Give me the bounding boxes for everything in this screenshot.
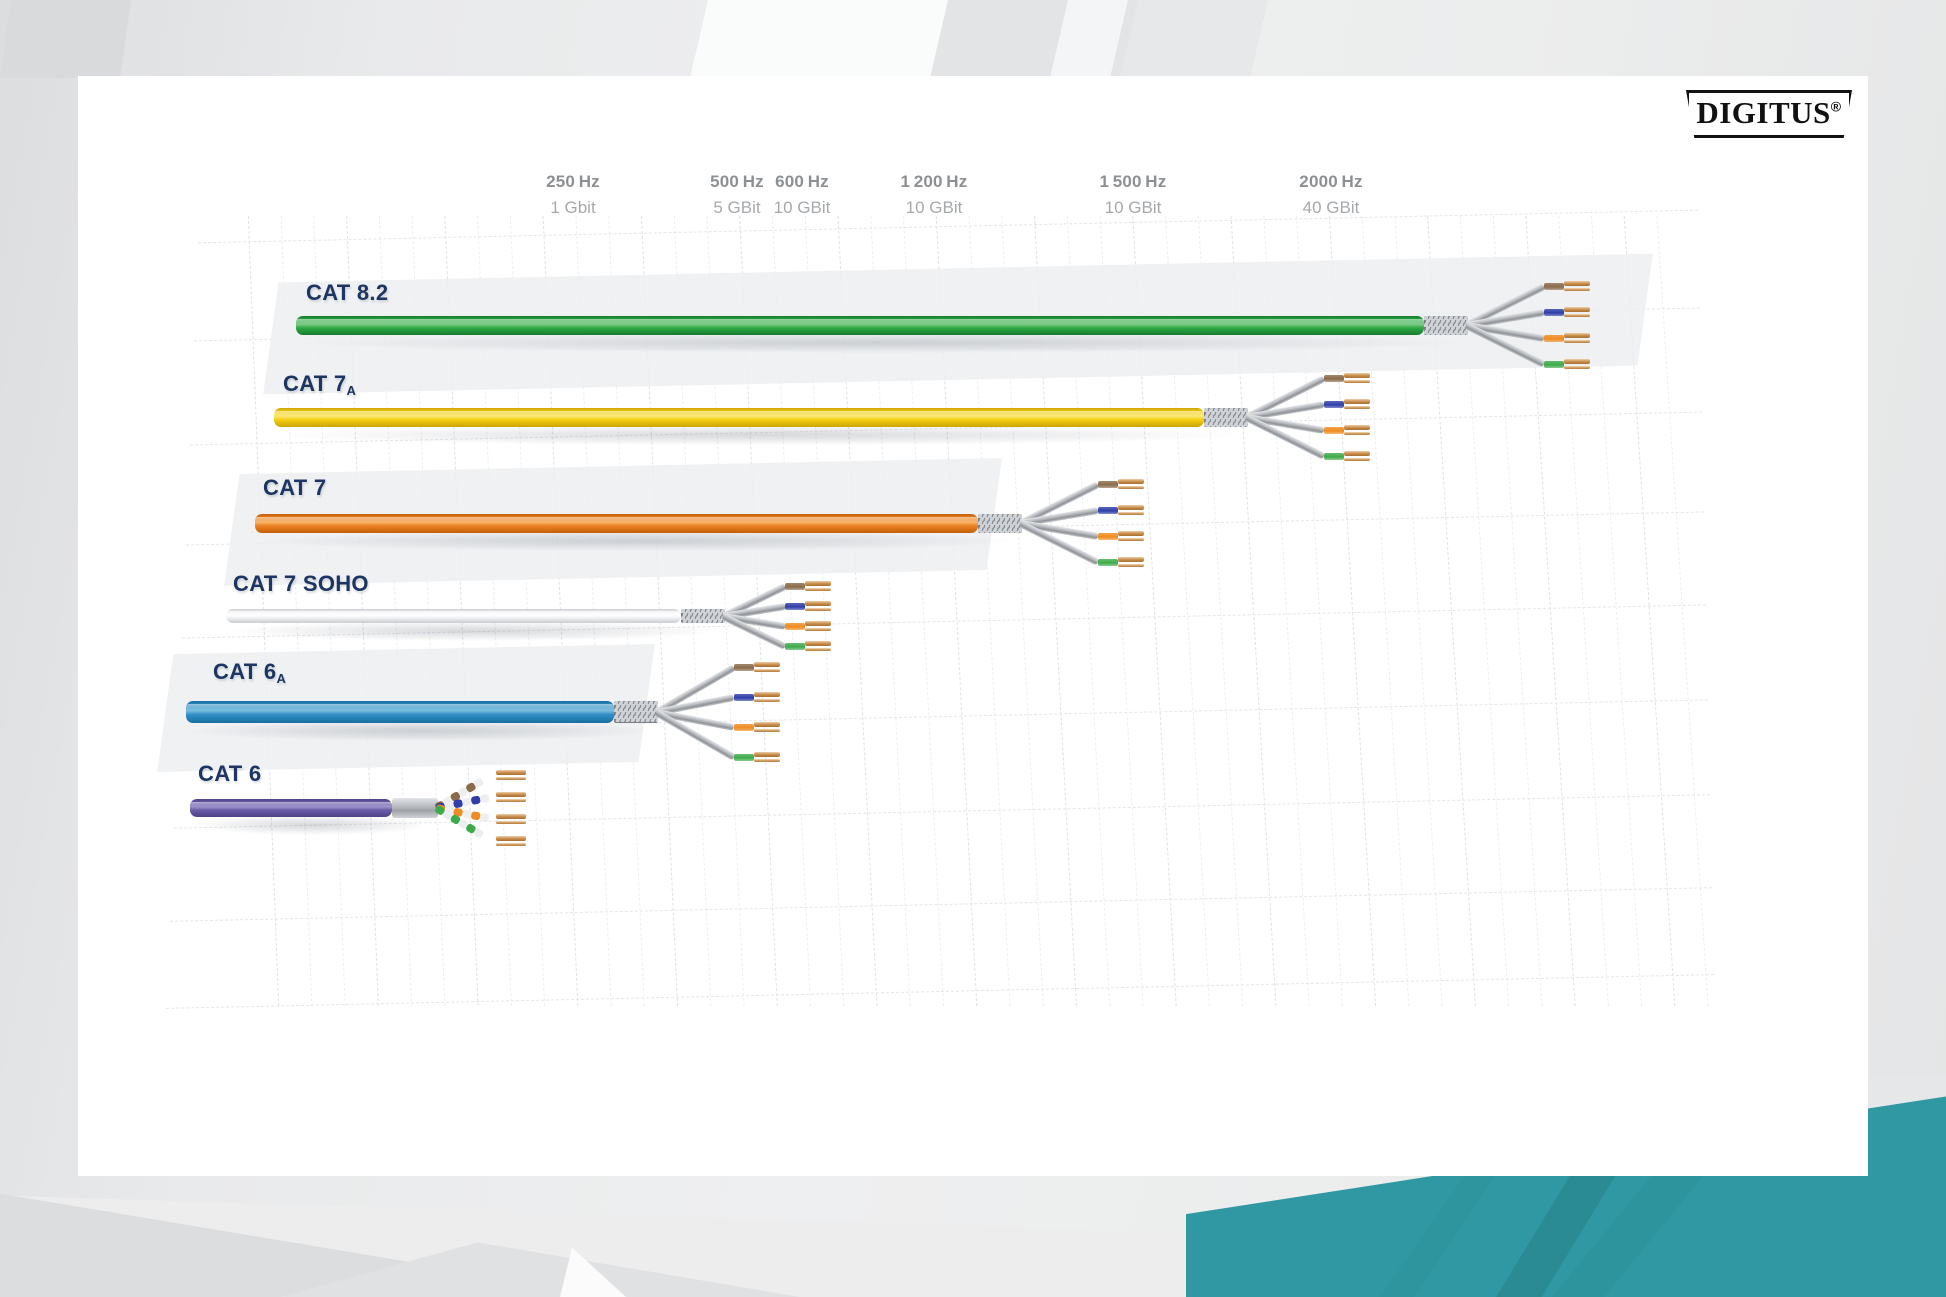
top-facet-left: [0, 0, 131, 78]
copper-conductor-1a: [496, 770, 526, 775]
copper-conductor-2b: [496, 799, 526, 802]
copper-conductor-4a: [496, 836, 526, 841]
cable-foil-shield: [392, 798, 438, 818]
cable-shadow: [196, 815, 428, 835]
cable-label-cat6: CAT 6: [198, 761, 261, 787]
copper-conductor-2a: [496, 792, 526, 797]
copper-conductor-4b: [496, 843, 526, 846]
cable-jacket-cat6: [190, 799, 392, 817]
top-facet-1: [690, 0, 968, 78]
top-facet-4: [1120, 0, 1268, 78]
copper-conductor-3a: [496, 814, 526, 819]
cable-row-cat6: CAT 6: [78, 76, 1868, 1176]
copper-conductor-3b: [496, 821, 526, 824]
infographic-card: DIGITUS® 250 Hz1 Gbit500 Hz5 GBit600 Hz1…: [78, 76, 1868, 1176]
copper-conductor-1b: [496, 777, 526, 780]
